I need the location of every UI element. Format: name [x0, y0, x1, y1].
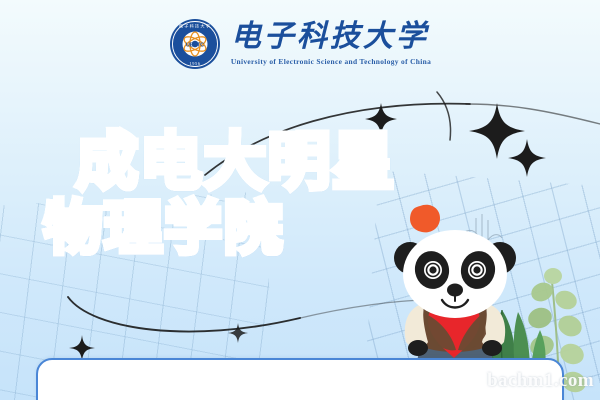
sparkle-large — [469, 103, 525, 159]
poster-canvas: UESTC 1956 电子科技大学 电子科技大学 University of E… — [0, 0, 600, 400]
university-name-en: University of Electronic Science and Tec… — [231, 58, 431, 65]
swoosh-arc-top-tail — [466, 104, 600, 124]
seal-acronym: UESTC — [186, 42, 204, 48]
university-name-cn: 电子科技大学 — [231, 22, 429, 52]
uestc-seal-icon: UESTC 1956 电子科技大学 — [169, 18, 221, 70]
headline-line-2: 物理学院 — [44, 200, 470, 258]
headline-block: 成电大明星 物理学院 — [40, 132, 470, 258]
swoosh-arc-bottom — [68, 297, 300, 332]
university-logo: UESTC 1956 电子科技大学 电子科技大学 University of E… — [0, 18, 600, 70]
sparkle-medium — [508, 139, 546, 177]
seal-year: 1956 — [189, 61, 200, 66]
heart-icon — [428, 305, 480, 358]
seal-ring-text: 电子科技大学 — [179, 23, 211, 30]
headline-line-1: 成电大明星 — [76, 132, 470, 194]
logo-text-group: 电子科技大学 University of Electronic Science … — [231, 22, 431, 65]
swoosh-arc-bottom-tail — [296, 300, 430, 319]
watermark-text: bachm1.com — [487, 370, 594, 392]
sparkle-extra — [228, 323, 248, 343]
bottom-content-card — [36, 358, 564, 400]
